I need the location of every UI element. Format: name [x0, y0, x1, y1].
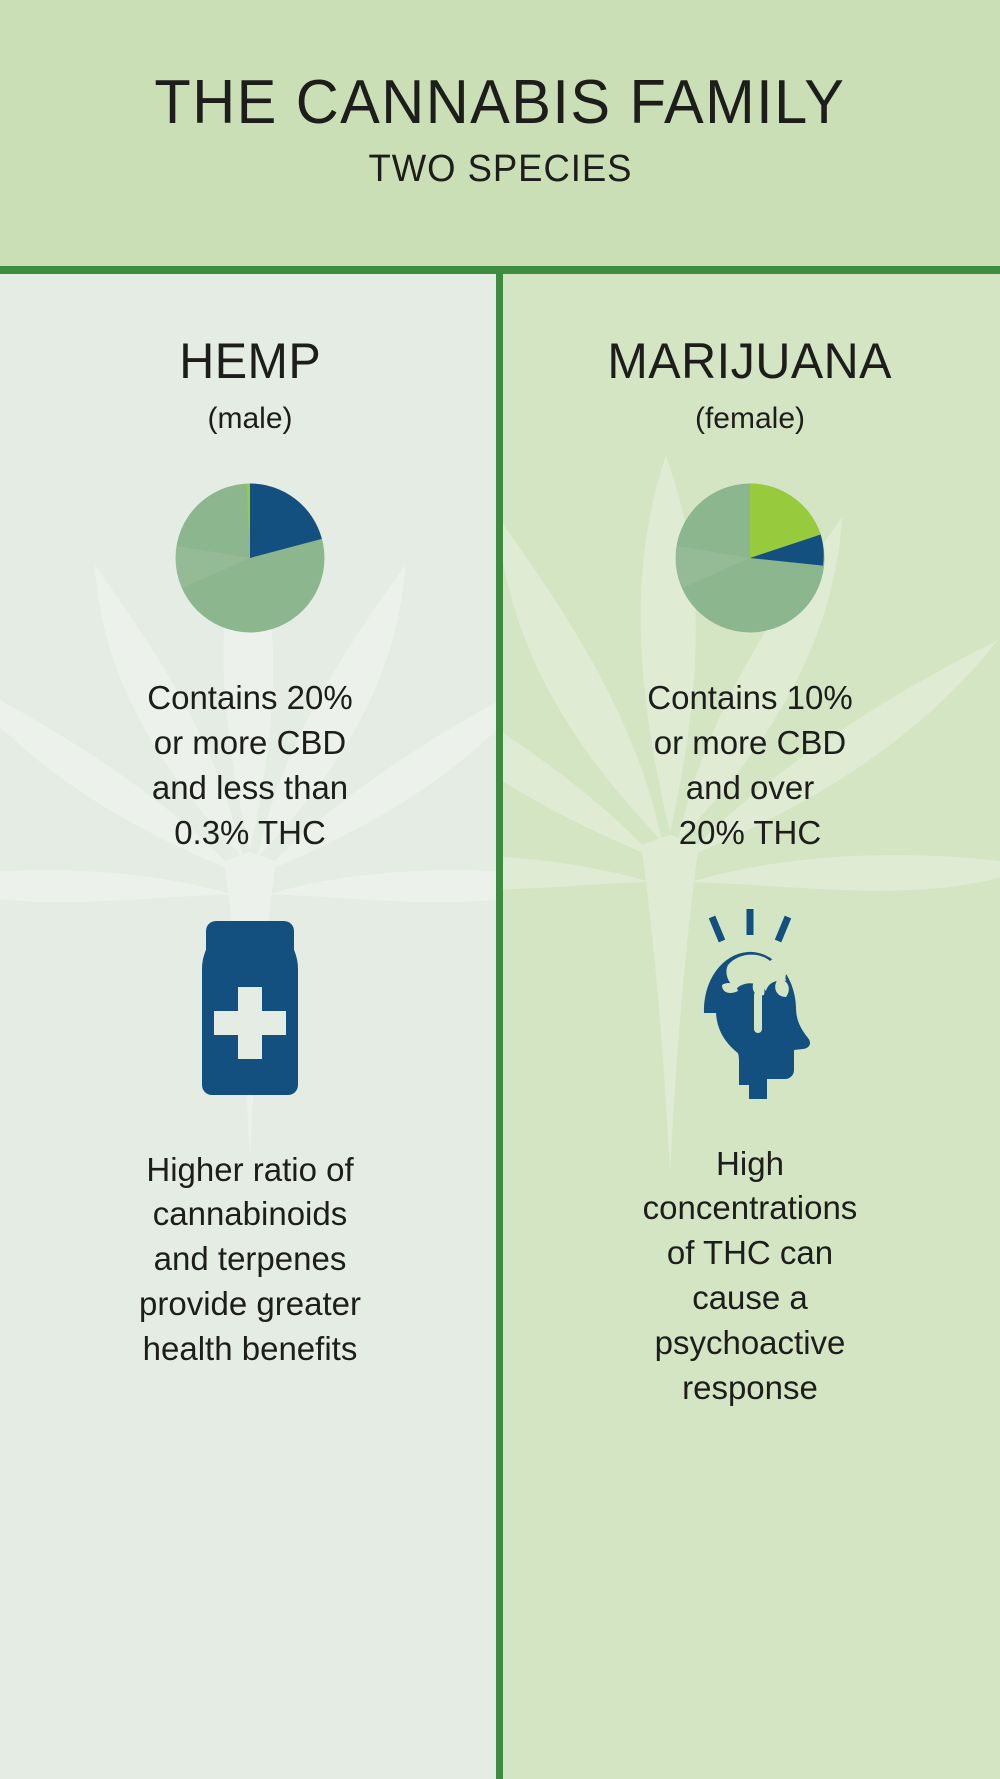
fact-text-hemp: Contains 20% or more CBD and less than 0… — [147, 676, 352, 856]
header-banner: THE CANNABIS FAMILY TWO SPECIES — [0, 0, 1000, 266]
icon-hemp-wrapper — [188, 916, 312, 1108]
infographic-poster: THE CANNABIS FAMILY TWO SPECIES HEMP — [0, 0, 1000, 1779]
species-sex-hemp: (male) — [207, 404, 292, 434]
column-hemp: HEMP (male) Contains 20% or more CBD a — [0, 274, 500, 1779]
column-marijuana: MARIJUANA (female) Contains 10% or more … — [500, 274, 1000, 1779]
column-hemp-content: HEMP (male) Contains 20% or more CBD a — [0, 274, 500, 1372]
page-title: THE CANNABIS FAMILY — [154, 72, 845, 134]
icon-marijuana-wrapper — [670, 910, 830, 1102]
benefit-text-marijuana: High concentrations of THC can cause a p… — [643, 1142, 858, 1411]
page-subtitle: TWO SPECIES — [368, 150, 632, 188]
brain-head-icon — [670, 907, 830, 1105]
header-divider-rule — [0, 266, 1000, 274]
species-name-hemp: HEMP — [179, 336, 321, 386]
column-divider — [496, 274, 503, 1779]
pie-chart-marijuana — [674, 482, 826, 634]
species-sex-marijuana: (female) — [695, 404, 805, 434]
column-marijuana-content: MARIJUANA (female) Contains 10% or more … — [500, 274, 1000, 1411]
fact-text-marijuana: Contains 10% or more CBD and over 20% TH… — [647, 676, 852, 856]
medicine-bottle-icon — [188, 917, 312, 1107]
benefit-text-hemp: Higher ratio of cannabinoids and terpene… — [139, 1148, 361, 1372]
species-name-marijuana: MARIJUANA — [608, 336, 893, 386]
pie-chart-hemp — [174, 482, 326, 634]
